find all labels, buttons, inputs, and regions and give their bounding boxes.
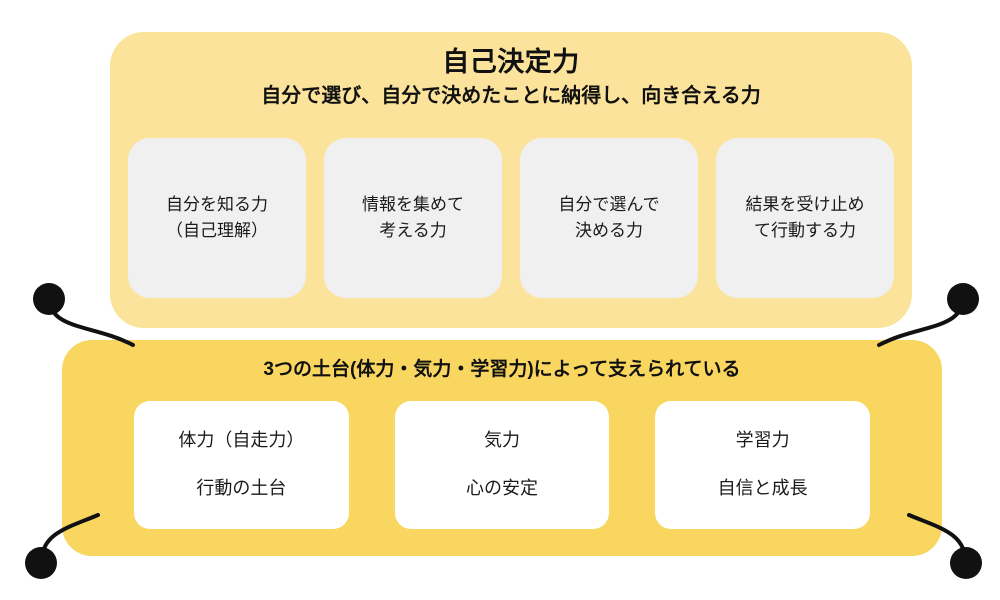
bottom-card-2-title: 気力 [484,430,520,452]
bottom-card-2-subtitle: 心の安定 [466,478,538,500]
top-card-4: 結果を受け止め て行動する力 [716,138,894,298]
bottom-card-3: 学習力 自信と成長 [655,401,870,529]
bottom-card-2: 気力 心の安定 [395,401,610,529]
top-card-4-label: 結果を受け止め て行動する力 [746,192,865,245]
self-determination-panel: 自己決定力 自分で選び、自分で決めたことに納得し、向き合える力 自分を知る力 （… [110,32,912,328]
top-card-1: 自分を知る力 （自己理解） [128,138,306,298]
top-card-1-label: 自分を知る力 （自己理解） [166,192,268,245]
diagram-canvas: 自己決定力 自分で選び、自分で決めたことに納得し、向き合える力 自分を知る力 （… [0,0,1000,600]
bottom-card-row: 体力（自走力） 行動の土台 気力 心の安定 学習力 自信と成長 [134,401,870,529]
bottom-card-3-title: 学習力 [736,430,790,452]
foundation-panel: 3つの土台(体力・気力・学習力)によって支えられている 体力（自走力） 行動の土… [62,340,942,556]
bottom-card-3-subtitle: 自信と成長 [718,478,808,500]
top-card-3-label: 自分で選んで 決める力 [558,192,659,245]
bottom-card-1: 体力（自走力） 行動の土台 [134,401,349,529]
top-card-2-label: 情報を集めて 考える力 [362,192,464,245]
page-subtitle: 自分で選び、自分で決めたことに納得し、向き合える力 [110,84,912,109]
foundation-title: 3つの土台(体力・気力・学習力)によって支えられている [62,358,942,382]
page-title: 自己決定力 [110,46,912,78]
top-card-row: 自分を知る力 （自己理解） 情報を集めて 考える力 自分で選んで 決める力 結果… [128,138,894,298]
bottom-card-1-title: 体力（自走力） [178,430,304,452]
top-card-3: 自分で選んで 決める力 [520,138,698,298]
bottom-card-1-subtitle: 行動の土台 [196,478,286,500]
top-card-2: 情報を集めて 考える力 [324,138,502,298]
